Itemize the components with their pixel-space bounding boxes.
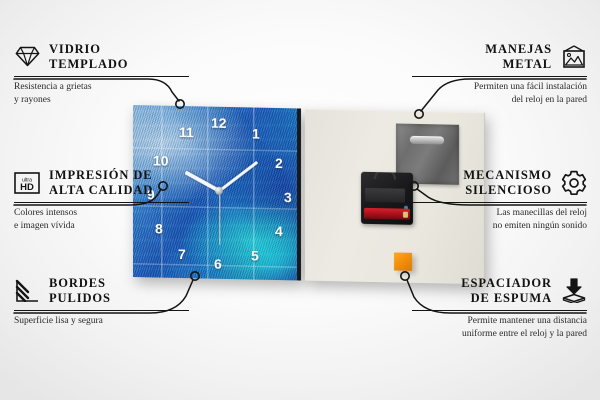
battery-positive-tip: [403, 211, 408, 217]
arrow-down-onto-foam-icon: [561, 278, 587, 304]
feature-title: IMPRESIÓN DE ALTA CALIDAD: [49, 168, 153, 198]
mechanism-hanging-loop: [374, 172, 396, 180]
feature-header: ESPACIADOR DE ESPUMA: [412, 276, 587, 306]
feature-description: Resistencia a grietas y rayones: [14, 81, 189, 108]
hanger-slot: [410, 136, 444, 145]
picture-frame-hanger-icon: [561, 44, 587, 70]
feature-bordes-pulidos: BORDES PULIDOS Superficie lisa y segura: [14, 276, 189, 328]
clock-numeral-2: 2: [275, 156, 283, 170]
ultra-hd-icon: ultra HD: [14, 170, 40, 196]
clock-center-pivot: [215, 187, 223, 195]
battery: [364, 208, 410, 220]
feature-title: VIDRIO TEMPLADO: [49, 42, 128, 72]
feature-header: VIDRIO TEMPLADO: [14, 42, 189, 72]
feature-vidrio-templado: VIDRIO TEMPLADO Resistencia a grietas y …: [14, 42, 189, 108]
feature-divider: [14, 76, 189, 77]
clock-numeral-6: 6: [214, 257, 222, 271]
mechanism-label-plate: [365, 188, 405, 203]
feature-header: MANEJAS METAL: [412, 42, 587, 72]
clock-numeral-7: 7: [178, 247, 186, 261]
clock-second-hand: [219, 191, 220, 245]
gear-icon: [561, 170, 587, 196]
clock-numeral-3: 3: [284, 190, 292, 204]
feature-divider: [412, 76, 587, 77]
feature-title: ESPACIADOR DE ESPUMA: [461, 276, 552, 306]
clock-numeral-1: 1: [252, 126, 260, 140]
feature-description: Permiten una fácil instalación del reloj…: [412, 81, 587, 108]
feature-divider: [14, 202, 189, 203]
feature-header: MECANISMO SILENCIOSO: [412, 168, 587, 198]
feature-title: BORDES PULIDOS: [49, 276, 111, 306]
feature-description: Colores intensos e imagen vívida: [14, 207, 189, 234]
feature-mecanismo-silencioso: MECANISMO SILENCIOSO Las manecillas del …: [412, 168, 587, 234]
feature-header: BORDES PULIDOS: [14, 276, 189, 306]
clock-numeral-5: 5: [251, 248, 259, 262]
feature-description: Permite mantener una distancia uniforme …: [412, 315, 587, 342]
feature-espaciador-espuma: ESPACIADOR DE ESPUMA Permite mantener un…: [412, 276, 587, 342]
feature-title: MANEJAS METAL: [485, 42, 552, 72]
feature-description: Las manecillas del reloj no emiten ningú…: [412, 207, 587, 234]
polished-edges-icon: [14, 278, 40, 304]
clock-numeral-12: 12: [211, 116, 227, 130]
clock-numeral-10: 10: [153, 153, 169, 167]
feature-manejas-metal: MANEJAS METAL Permiten una fácil instala…: [412, 42, 587, 108]
feature-divider: [14, 310, 189, 311]
foam-spacer: [394, 252, 412, 270]
feature-header: ultra HD IMPRESIÓN DE ALTA CALIDAD: [14, 168, 189, 198]
svg-text:HD: HD: [20, 182, 34, 193]
feature-divider: [412, 202, 587, 203]
infographic-canvas: 12 1 2 3 4 5 6 7 8 9 10 11: [0, 0, 600, 400]
clock-mechanism: [361, 172, 413, 225]
feature-impresion-alta-calidad: ultra HD IMPRESIÓN DE ALTA CALIDAD Color…: [14, 168, 189, 234]
feature-description: Superficie lisa y segura: [14, 315, 189, 328]
feature-title: MECANISMO SILENCIOSO: [463, 168, 552, 198]
diamond-icon: [14, 44, 40, 70]
clock-minute-hand: [218, 161, 258, 192]
feature-divider: [412, 310, 587, 311]
clock-numeral-11: 11: [179, 125, 194, 139]
clock-numeral-4: 4: [275, 224, 283, 238]
